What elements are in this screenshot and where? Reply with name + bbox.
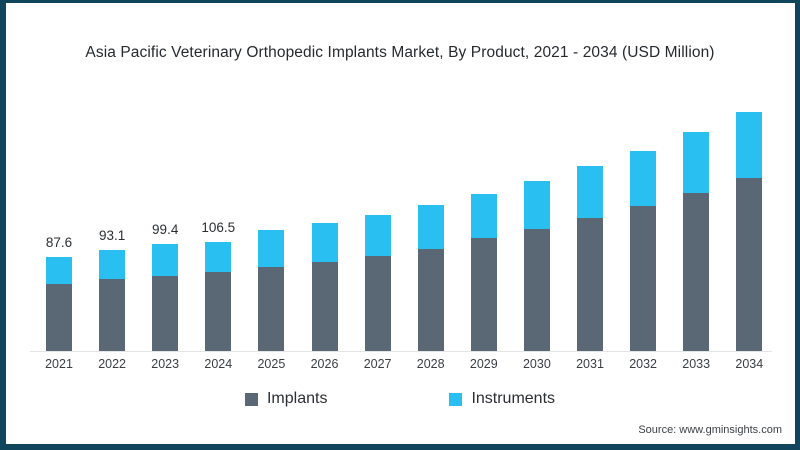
bar-segment-implants-2025[interactable] xyxy=(258,267,284,351)
bar-segment-implants-2026[interactable] xyxy=(312,262,338,351)
x-axis-label-2032: 2032 xyxy=(613,357,673,371)
legend-swatch-implants xyxy=(245,393,258,406)
bar-2031[interactable] xyxy=(577,166,603,351)
bar-segment-implants-2033[interactable] xyxy=(683,193,709,351)
bar-segment-implants-2031[interactable] xyxy=(577,218,603,351)
bar-2027[interactable] xyxy=(365,215,391,351)
bar-segment-instruments-2029[interactable] xyxy=(471,194,497,238)
legend-swatch-instruments xyxy=(449,393,462,406)
bar-value-label-2021: 87.6 xyxy=(46,235,72,250)
bar-2030[interactable] xyxy=(524,181,550,351)
x-axis-label-2022: 2022 xyxy=(82,357,142,371)
x-axis-label-2026: 2026 xyxy=(295,357,355,371)
bar-segment-implants-2034[interactable] xyxy=(736,178,762,351)
bar-segment-instruments-2034[interactable] xyxy=(736,112,762,178)
legend-label-implants: Implants xyxy=(267,390,327,408)
bar-2023[interactable]: 99.4 xyxy=(152,244,178,351)
bar-2022[interactable]: 93.1 xyxy=(99,250,125,351)
frame-border-left xyxy=(0,0,6,450)
x-axis-label-2027: 2027 xyxy=(348,357,408,371)
bar-2034[interactable] xyxy=(736,112,762,351)
bar-segment-instruments-2030[interactable] xyxy=(524,181,550,229)
bar-segment-instruments-2026[interactable] xyxy=(312,223,338,262)
bar-segment-instruments-2027[interactable] xyxy=(365,215,391,256)
chart-legend: Implants Instruments xyxy=(0,390,800,408)
x-axis-label-2023: 2023 xyxy=(135,357,195,371)
x-axis-label-2028: 2028 xyxy=(401,357,461,371)
legend-item-instruments[interactable]: Instruments xyxy=(449,390,555,408)
bar-segment-implants-2028[interactable] xyxy=(418,249,444,351)
bar-value-label-2022: 93.1 xyxy=(99,228,125,243)
bar-2024[interactable]: 106.5 xyxy=(205,242,231,351)
bar-segment-instruments-2028[interactable] xyxy=(418,205,444,249)
bar-2033[interactable] xyxy=(683,132,709,351)
x-axis-label-2031: 2031 xyxy=(560,357,620,371)
x-axis-label-2033: 2033 xyxy=(666,357,726,371)
chart-figure: Asia Pacific Veterinary Orthopedic Impla… xyxy=(0,0,800,450)
bar-segment-instruments-2022[interactable] xyxy=(99,250,125,279)
bar-segment-instruments-2032[interactable] xyxy=(630,151,656,206)
bar-segment-implants-2030[interactable] xyxy=(524,229,550,351)
frame-border-top xyxy=(0,0,800,3)
legend-item-implants[interactable]: Implants xyxy=(245,390,327,408)
source-attribution: Source: www.gminsights.com xyxy=(638,424,782,436)
bar-segment-instruments-2023[interactable] xyxy=(152,244,178,276)
bar-2025[interactable] xyxy=(258,230,284,351)
bar-2028[interactable] xyxy=(418,205,444,351)
bar-segment-implants-2027[interactable] xyxy=(365,256,391,351)
legend-label-instruments: Instruments xyxy=(471,390,555,408)
x-axis-label-2030: 2030 xyxy=(507,357,567,371)
plot-area: 87.693.199.4106.5 xyxy=(30,95,772,351)
bar-2029[interactable] xyxy=(471,194,497,351)
x-axis-label-2025: 2025 xyxy=(241,357,301,371)
bar-2032[interactable] xyxy=(630,151,656,351)
bar-segment-instruments-2024[interactable] xyxy=(205,242,231,272)
bar-2021[interactable]: 87.6 xyxy=(46,257,72,351)
x-axis-label-2024: 2024 xyxy=(188,357,248,371)
bar-segment-instruments-2031[interactable] xyxy=(577,166,603,218)
bar-segment-implants-2022[interactable] xyxy=(99,279,125,351)
bar-segment-instruments-2021[interactable] xyxy=(46,257,72,284)
bar-segment-instruments-2025[interactable] xyxy=(258,230,284,267)
chart-title: Asia Pacific Veterinary Orthopedic Impla… xyxy=(0,44,800,62)
bar-value-label-2023: 99.4 xyxy=(152,222,178,237)
x-axis-label-2021: 2021 xyxy=(29,357,89,371)
x-axis-label-2029: 2029 xyxy=(454,357,514,371)
x-axis-baseline xyxy=(30,351,772,352)
bar-segment-implants-2021[interactable] xyxy=(46,284,72,351)
bar-segment-implants-2032[interactable] xyxy=(630,206,656,351)
frame-border-bottom xyxy=(0,444,800,450)
frame-border-right xyxy=(795,0,800,450)
bar-2026[interactable] xyxy=(312,223,338,351)
x-axis-label-2034: 2034 xyxy=(719,357,779,371)
bar-segment-implants-2024[interactable] xyxy=(205,272,231,351)
bar-value-label-2024: 106.5 xyxy=(201,220,235,235)
bar-segment-implants-2023[interactable] xyxy=(152,276,178,351)
bar-segment-instruments-2033[interactable] xyxy=(683,132,709,193)
bar-segment-implants-2029[interactable] xyxy=(471,238,497,351)
